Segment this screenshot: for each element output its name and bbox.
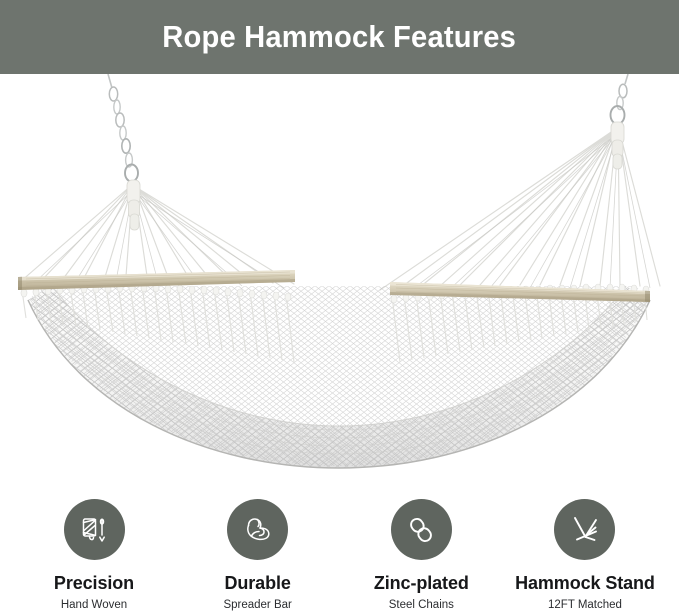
feature-row: Precision Hand Woven Durable Spreader Ba… (0, 480, 679, 615)
flexed-bicep-icon (240, 512, 276, 548)
feature-subtitle: Steel Chains (389, 599, 454, 611)
hero-image (0, 74, 679, 480)
hammock-stand-icon (566, 511, 604, 549)
thread-spool-needle-icon (76, 512, 112, 548)
feature-icon-circle (554, 499, 615, 560)
hanging-chain-left (108, 74, 138, 182)
feature-title: Zinc-plated (374, 573, 469, 594)
feature-icon-circle (64, 499, 125, 560)
feature-icon-circle (227, 499, 288, 560)
feature-subtitle: Spreader Bar (223, 599, 291, 611)
header-banner: Rope Hammock Features (0, 0, 679, 74)
rope-knot-right (611, 122, 624, 169)
page-title: Rope Hammock Features (163, 19, 517, 55)
feature-title: Precision (54, 573, 134, 594)
feature-item-hammock-stand: Hammock Stand 12FT Matched (505, 480, 665, 611)
feature-item-zinc-plated: Zinc-plated Steel Chains (341, 480, 501, 611)
chain-links-icon (403, 512, 439, 548)
feature-item-durable: Durable Spreader Bar (178, 480, 338, 611)
feature-subtitle: 12FT Matched (548, 599, 622, 611)
feature-subtitle: Hand Woven (61, 599, 127, 611)
feature-title: Durable (224, 573, 290, 594)
rope-knot-left (127, 180, 140, 230)
feature-item-precision: Precision Hand Woven (14, 480, 174, 611)
feature-title: Hammock Stand (515, 573, 655, 594)
feature-icon-circle (391, 499, 452, 560)
rope-fan-left (20, 184, 294, 284)
hammock-illustration (0, 74, 679, 480)
hanging-chain-right (611, 74, 629, 124)
